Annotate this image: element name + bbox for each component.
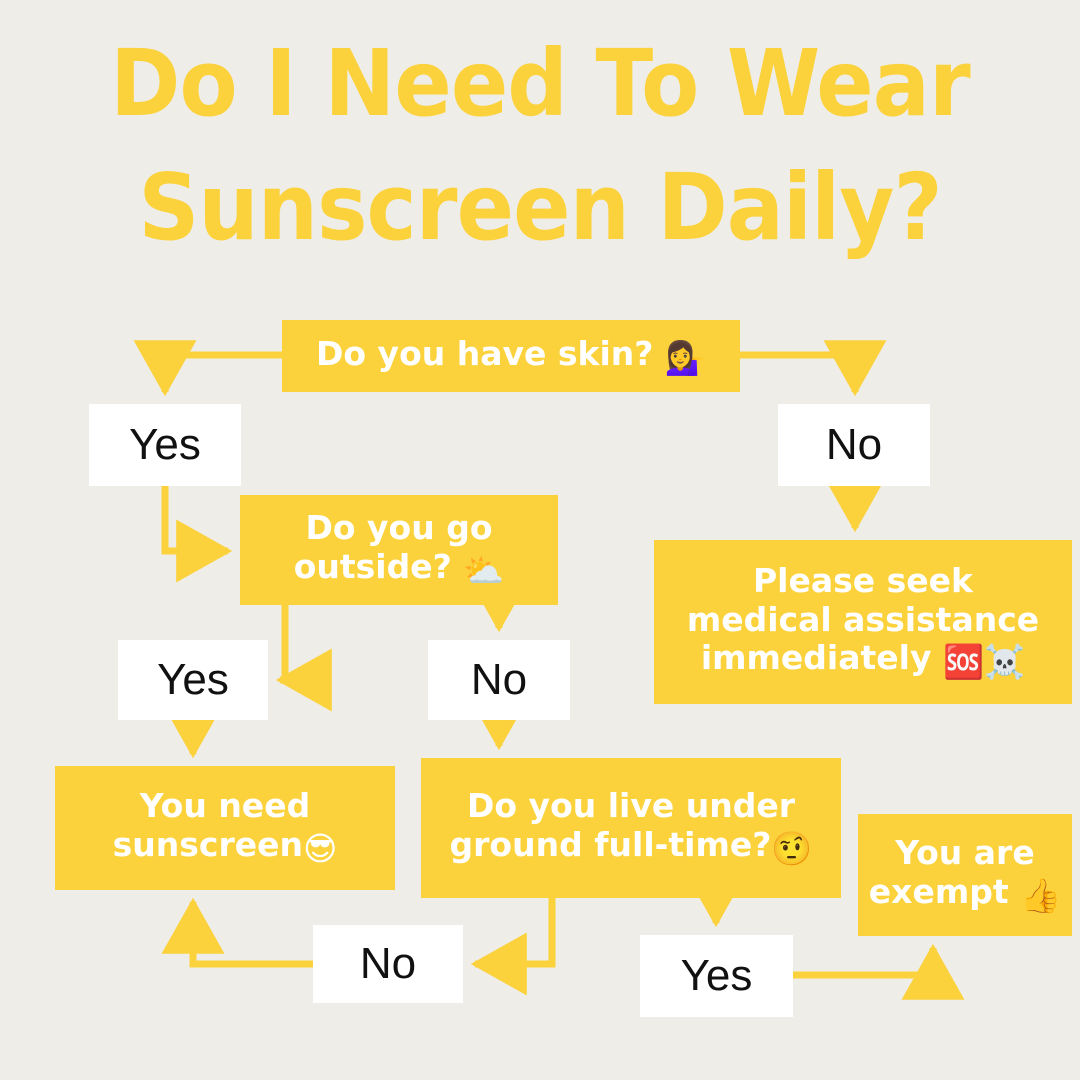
node-exempt-line2: exempt xyxy=(869,872,1020,911)
answer-no-lives-underground[interactable]: No xyxy=(313,925,463,1003)
node-outside-line1: Do you go xyxy=(305,508,492,547)
node-medical-line2: medical assistance xyxy=(687,600,1039,639)
woman-tipping-hand-icon: 💁‍♀️ xyxy=(665,339,706,378)
node-do-you-go-outside[interactable]: Do you go outside? ⛅ xyxy=(240,495,558,605)
node-need-line1: You need xyxy=(140,786,310,825)
node-medical-line3: immediately xyxy=(701,638,943,677)
node-skin-label: Do you have skin? xyxy=(316,334,665,373)
edge-yes-outside xyxy=(165,486,228,551)
node-need-line2: sunscreen xyxy=(113,825,303,864)
edge-skin-no xyxy=(740,355,855,392)
answer-yes-goes-outside[interactable]: Yes xyxy=(118,640,268,720)
node-medical-line1: Please seek xyxy=(753,561,973,600)
node-you-are-exempt[interactable]: You are exempt 👍 xyxy=(858,814,1072,936)
answer-no-goes-outside[interactable]: No xyxy=(428,640,570,720)
thumbs-up-icon: 👍 xyxy=(1020,877,1061,916)
infographic-canvas: Do I Need To Wear Sunscreen Daily? xyxy=(0,0,1080,1080)
smiling-face-with-sunglasses-icon: 😎 xyxy=(303,830,337,869)
answer-yes-has-skin[interactable]: Yes xyxy=(89,404,241,486)
node-exempt-line1: You are xyxy=(895,833,1034,872)
node-seek-medical-assistance[interactable]: Please seek medical assistance immediate… xyxy=(654,540,1072,704)
edge-skin-yes xyxy=(165,355,282,392)
node-you-need-sunscreen[interactable]: You need sunscreen😎 xyxy=(55,766,395,890)
edge-outside-yes xyxy=(280,605,285,680)
edge-yes-exempt xyxy=(793,948,933,975)
face-with-raised-eyebrow-icon: 🤨 xyxy=(771,830,812,869)
answer-no-has-skin[interactable]: No xyxy=(778,404,930,486)
node-under-line1: Do you live under xyxy=(467,786,795,825)
edge-under-no xyxy=(475,898,552,964)
sun-behind-cloud-icon: ⛅ xyxy=(463,552,504,591)
answer-yes-lives-underground[interactable]: Yes xyxy=(640,935,793,1017)
node-do-you-have-skin[interactable]: Do you have skin? 💁‍♀️ xyxy=(282,320,740,392)
edge-no-need xyxy=(193,902,313,964)
sos-skull-crossbones-icon: 🆘☠️ xyxy=(943,643,1025,682)
node-under-line2: ground full-time? xyxy=(450,825,772,864)
page-title: Do I Need To Wear Sunscreen Daily? xyxy=(43,22,1037,270)
node-outside-line2: outside? xyxy=(294,547,464,586)
node-do-you-live-underground[interactable]: Do you live under ground full-time?🤨 xyxy=(421,758,841,898)
